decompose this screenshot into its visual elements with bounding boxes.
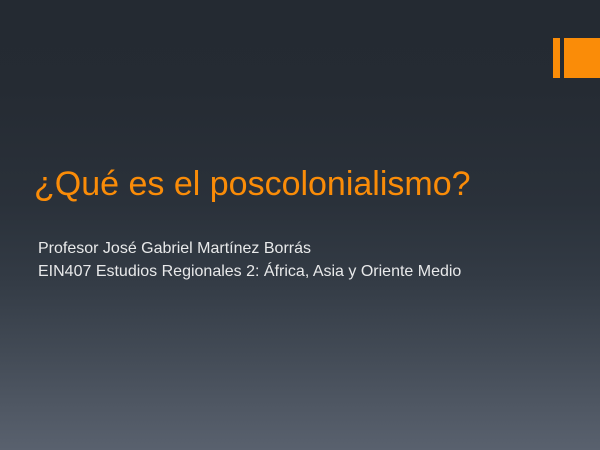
accent-bar-decoration [553,38,560,78]
title-slide: ¿Qué es el poscolonialismo? Profesor Jos… [0,0,600,450]
subtitle-line-course: EIN407 Estudios Regionales 2: África, As… [38,260,578,283]
subtitle-line-presenter: Profesor José Gabriel Martínez Borrás [38,237,578,260]
accent-block-decoration [564,38,600,78]
slide-subtitle: Profesor José Gabriel Martínez Borrás EI… [38,237,578,283]
slide-title: ¿Qué es el poscolonialismo? [34,163,574,205]
